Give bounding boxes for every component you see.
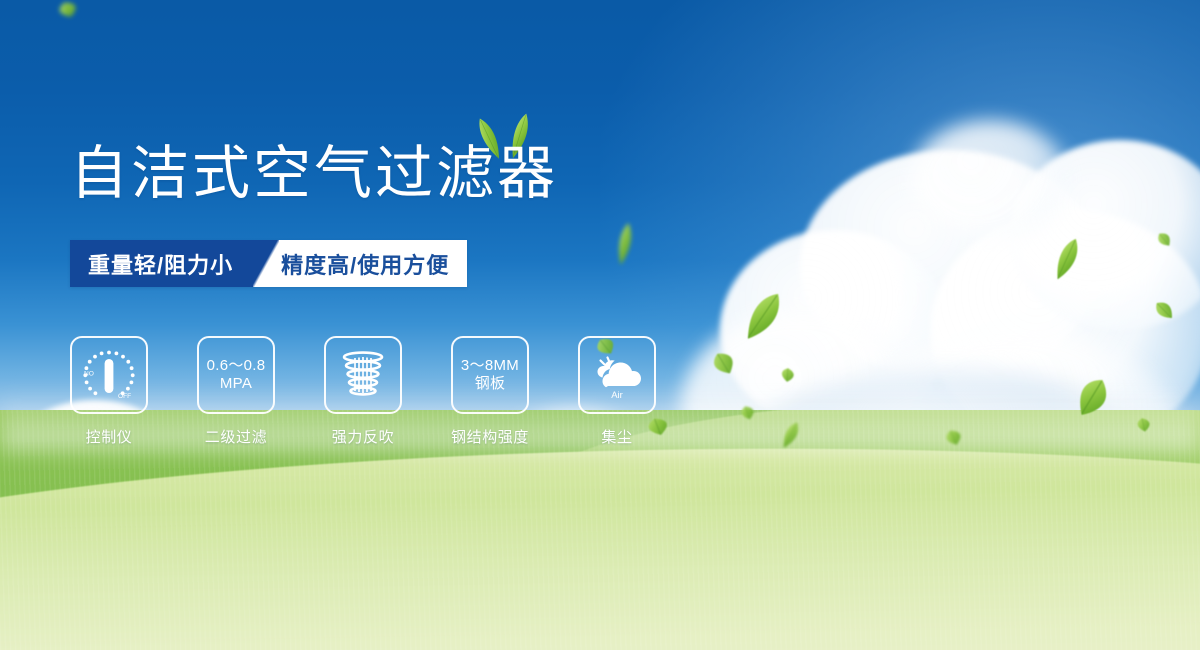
subtitle-divider	[253, 240, 279, 287]
steel-line-2: 钢板	[461, 375, 519, 393]
feature-item-steel[interactable]: 3～8MM 钢板 钢结构强度	[451, 336, 529, 447]
feature-item-dust[interactable]: Air 集尘	[578, 336, 656, 447]
pressure-line-2: MPA	[207, 375, 266, 393]
steel-line-1: 3～8MM	[461, 357, 519, 375]
air-cloud-icon: Air	[586, 344, 648, 406]
feature-box-steel: 3～8MM 钢板	[451, 336, 529, 414]
feature-item-pressure[interactable]: 0.6～0.8 MPA 二级过滤	[197, 336, 275, 447]
dial-off-label: OFF	[118, 393, 131, 400]
promo-banner: 自洁式空气过滤器 重量轻/阻力小 精度高/使用方便	[0, 0, 1200, 650]
feature-label-dust: 集尘	[601, 426, 632, 447]
filter-cartridge-icon	[332, 344, 394, 406]
dial-on-label: NO	[84, 371, 94, 378]
pressure-line-1: 0.6～0.8	[207, 357, 266, 375]
feature-label-control: 控制仪	[86, 426, 133, 447]
feature-label-pressure: 二级过滤	[205, 426, 267, 447]
feature-label-steel: 钢结构强度	[451, 426, 529, 447]
feature-box-backblow	[324, 336, 402, 414]
feature-item-control[interactable]: NO OFF 控制仪	[70, 336, 148, 447]
page-title: 自洁式空气过滤器	[70, 143, 558, 206]
steel-plate-text-icon: 3～8MM 钢板	[461, 357, 519, 394]
feature-label-backblow: 强力反吹	[332, 426, 394, 447]
air-label: Air	[611, 390, 623, 401]
feature-box-dust: Air	[578, 336, 656, 414]
subtitle-right: 精度高/使用方便	[279, 240, 467, 287]
feature-item-backblow[interactable]: 强力反吹	[324, 336, 402, 447]
banner-content: 自洁式空气过滤器 重量轻/阻力小 精度高/使用方便	[0, 0, 1200, 650]
subtitle-left: 重量轻/阻力小	[70, 240, 253, 287]
control-dial-icon: NO OFF	[78, 344, 140, 406]
feature-box-pressure: 0.6～0.8 MPA	[197, 336, 275, 414]
feature-box-control: NO OFF	[70, 336, 148, 414]
feature-list: NO OFF 控制仪 0.6～0.8 MPA 二级过滤	[70, 336, 656, 447]
subtitle-bar: 重量轻/阻力小 精度高/使用方便	[70, 240, 467, 287]
pressure-text-icon: 0.6～0.8 MPA	[207, 357, 266, 394]
